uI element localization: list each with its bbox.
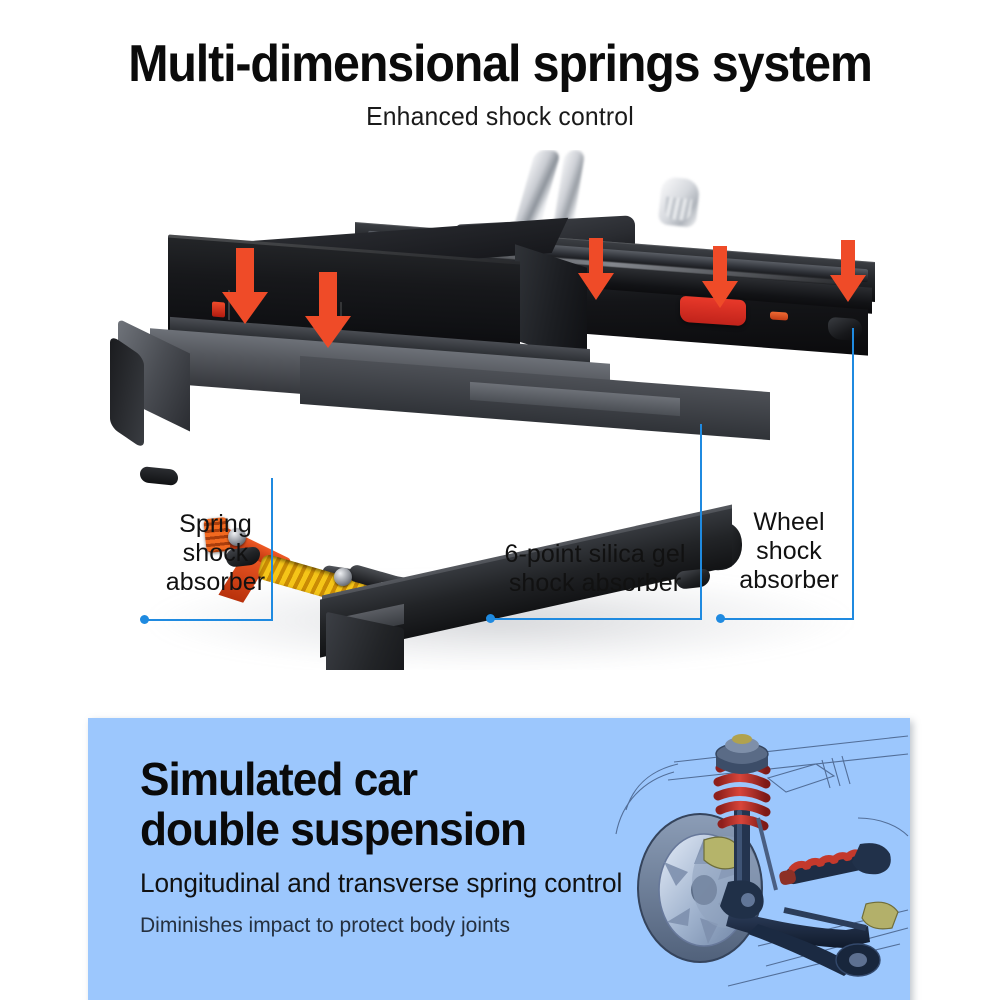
panel-subheading: Longitudinal and transverse spring contr… — [140, 868, 664, 899]
rear-transport-wheel — [828, 317, 862, 341]
page-subtitle: Enhanced shock control — [25, 101, 975, 132]
callout-vline-wheel — [852, 328, 854, 619]
callout-line: Wheel — [728, 508, 850, 537]
callout-label-wheel-shock-absorber: Wheel shock absorber — [728, 508, 850, 595]
infographic-root: Multi-dimensional springs system Enhance… — [0, 0, 1000, 1000]
callout-line: shock — [158, 539, 273, 568]
callout-line: shock absorber — [490, 569, 700, 598]
callout-dot-spring — [140, 615, 149, 624]
callout-line: shock — [728, 537, 850, 566]
chassis-left-foot — [140, 466, 178, 486]
arrow-deck-2 — [702, 246, 738, 313]
callout-line: absorber — [158, 568, 273, 597]
callout-line: 6-point silica gel — [490, 540, 700, 569]
callout-vline-silica — [700, 424, 702, 619]
panel-heading-line1: Simulated car — [140, 754, 639, 804]
callout-label-silica-gel-shock-absorber: 6-point silica gel shock absorber — [490, 540, 700, 598]
pivot-bolt-2 — [334, 568, 352, 586]
silica-gel-chip-right — [770, 311, 788, 320]
panel-heading: Simulated car double suspension — [140, 754, 639, 854]
page-title: Multi-dimensional springs system — [35, 34, 965, 94]
callout-line: Spring — [158, 510, 273, 539]
callout-hline-wheel — [722, 618, 854, 620]
callout-line: absorber — [728, 566, 850, 595]
arrow-hood-right — [305, 272, 351, 353]
callout-vline-spring — [271, 478, 273, 620]
callout-dot-wheel — [716, 614, 725, 623]
arrow-deck-1 — [578, 238, 614, 305]
callout-dot-silica — [486, 614, 495, 623]
callout-hline-silica — [492, 618, 702, 620]
callout-hline-spring — [146, 619, 273, 621]
panel-caption: Diminishes impact to protect body joints — [140, 914, 680, 938]
arrow-hood-left — [222, 248, 268, 329]
arrow-deck-3 — [830, 240, 866, 307]
panel-heading-line2: double suspension — [140, 804, 639, 854]
car-suspension-illustration — [608, 718, 910, 1000]
simulated-suspension-panel: Simulated car double suspension Longitud… — [88, 718, 910, 1000]
callout-label-spring-shock-absorber: Spring shock absorber — [158, 510, 273, 597]
